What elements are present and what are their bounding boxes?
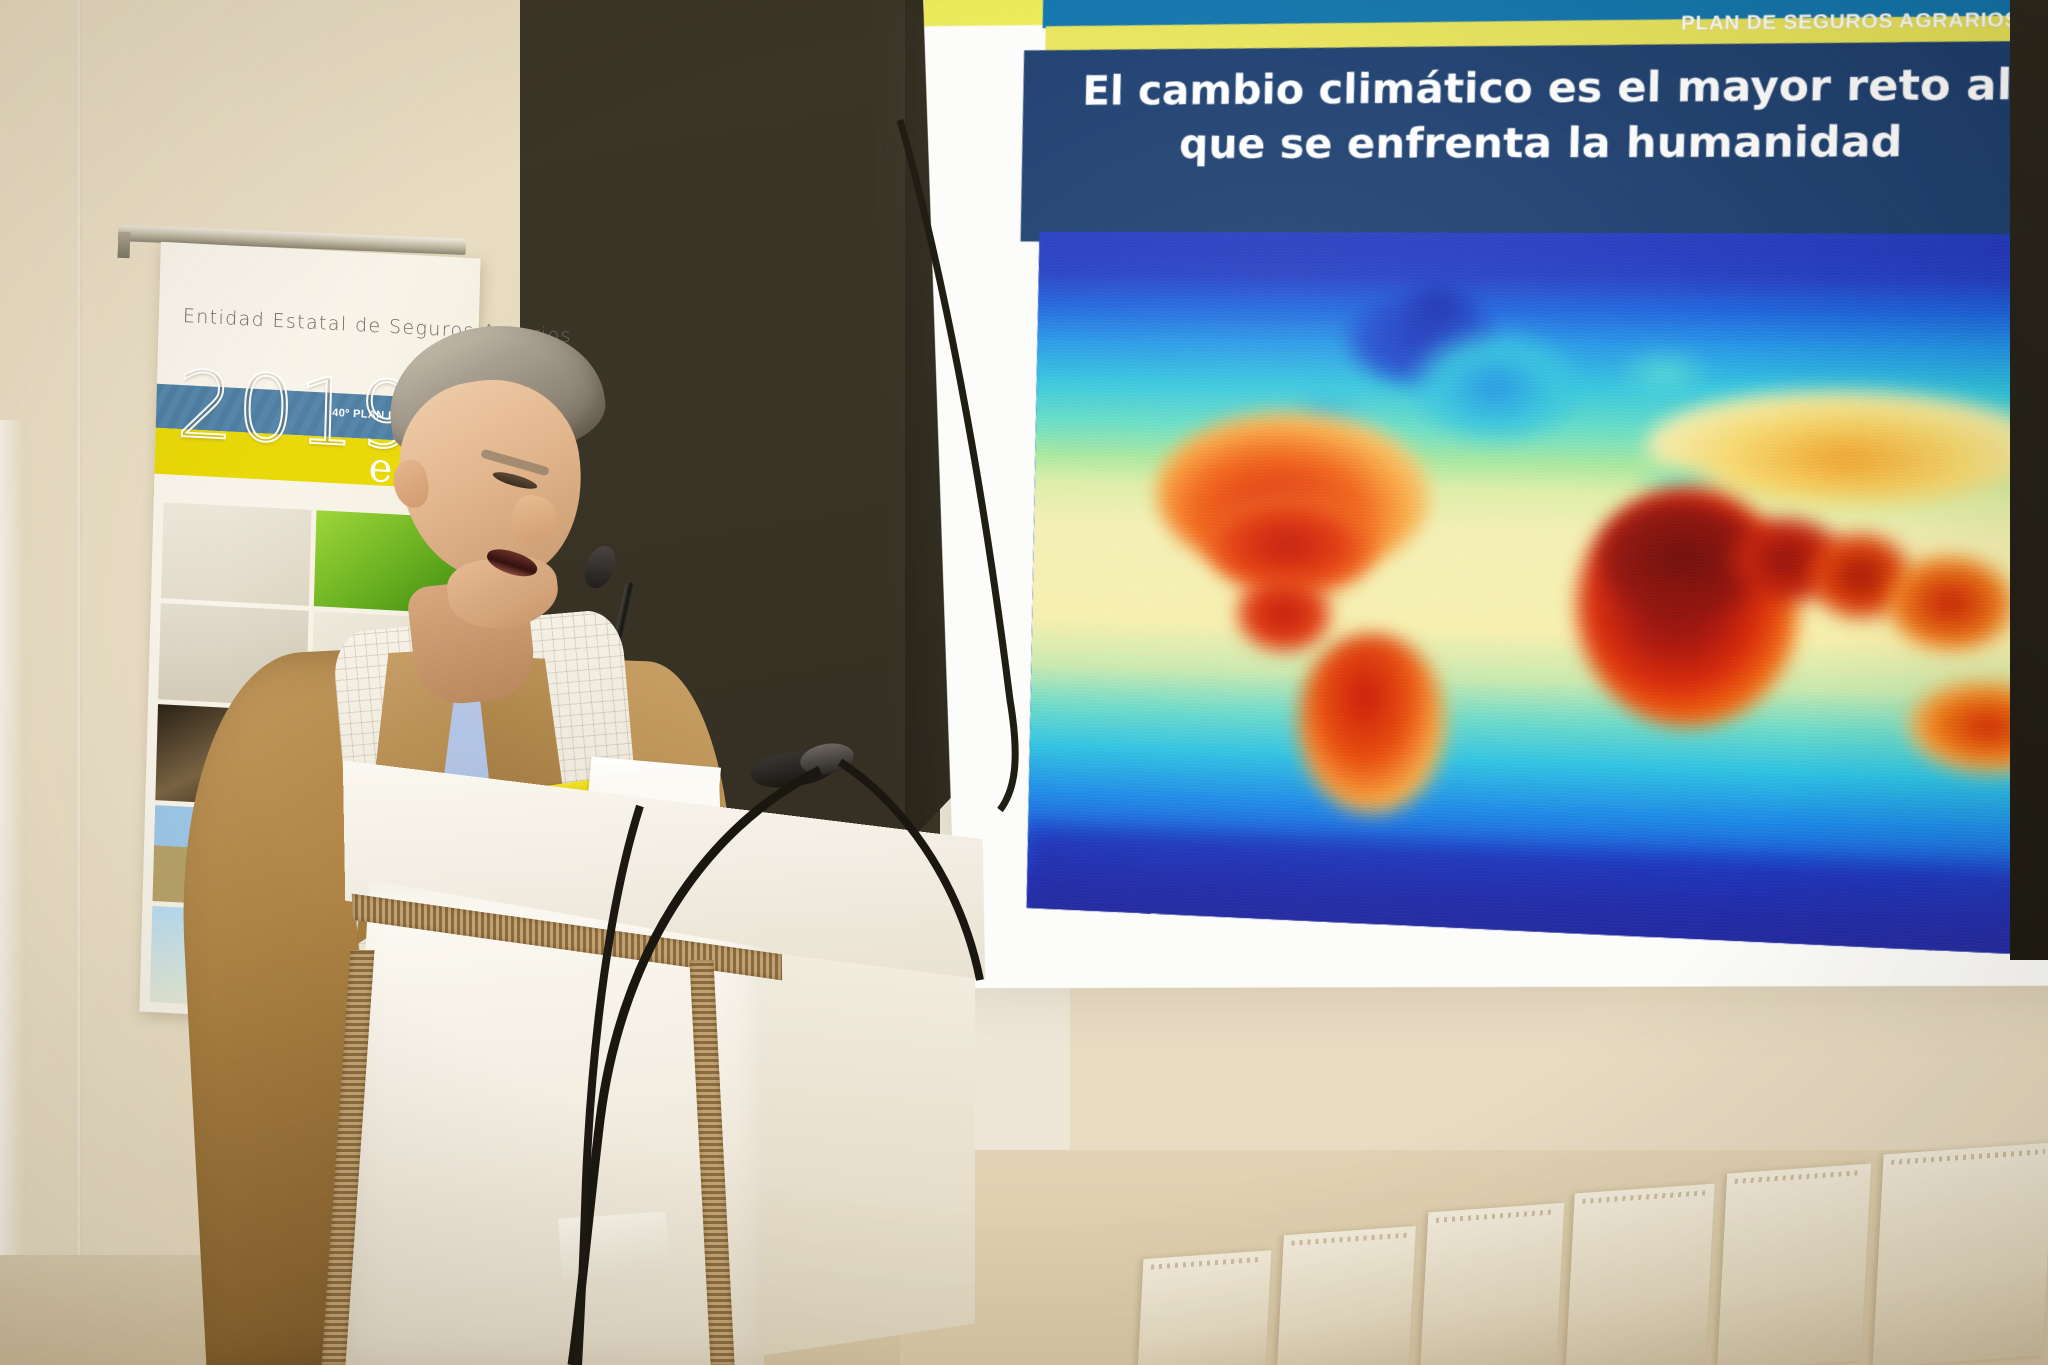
chair	[1717, 1163, 1871, 1365]
chair-perforation	[1436, 1209, 1556, 1222]
chair-perforation	[1582, 1190, 1706, 1204]
chair-perforation	[1735, 1170, 1863, 1184]
wall-seam	[78, 0, 82, 1365]
screen-right-frame	[2010, 0, 2048, 960]
slide-plan-name: PLAN DE SEGUROS AGRARIOS	[1681, 8, 2048, 37]
world-temperature-heatmap	[1027, 232, 2048, 959]
chair	[1276, 1226, 1416, 1365]
chair	[1137, 1250, 1272, 1365]
photo-scene: Entidad Estatal de Seguros Agrarios 2019…	[0, 0, 2048, 1365]
chair-perforation	[1291, 1233, 1407, 1246]
heatmap-canvas	[1027, 232, 2048, 959]
chair-perforation	[1891, 1149, 2045, 1165]
wall-corner	[0, 420, 26, 1365]
lectern-tape-patch	[558, 1211, 670, 1278]
chair-perforation	[1151, 1257, 1263, 1270]
banner-rail-cap	[117, 232, 130, 258]
chair	[1565, 1184, 1714, 1365]
projection-screen: Entidad Estatal de Seguros Agrarios PLAN…	[923, 0, 2048, 988]
chair	[1873, 1142, 2048, 1365]
projector-scanlines	[1027, 232, 2048, 959]
slide-title: El cambio climático es el mayor reto al …	[1036, 57, 2048, 172]
chair	[1420, 1203, 1564, 1365]
